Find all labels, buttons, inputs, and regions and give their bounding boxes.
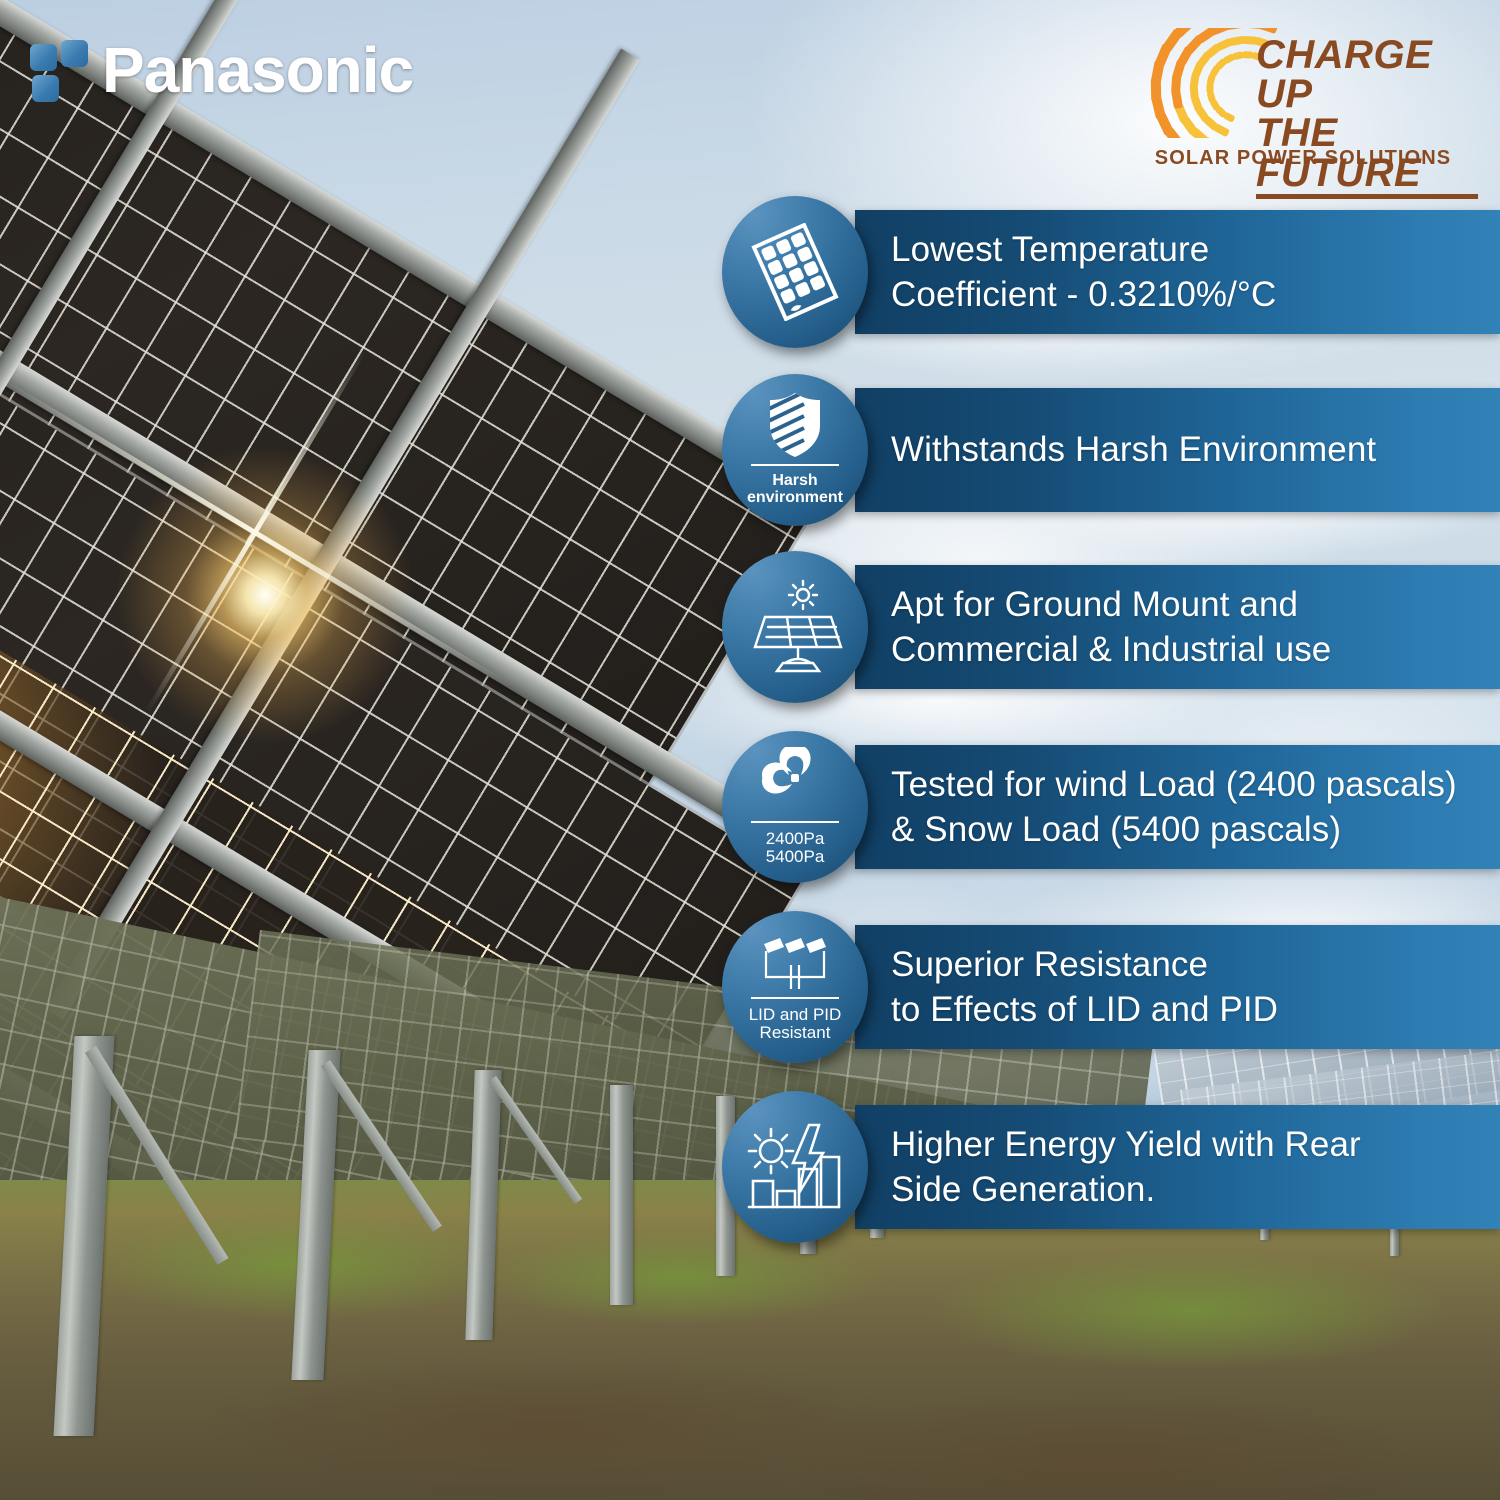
lid-pid-circuit-icon bbox=[754, 931, 836, 993]
feature-text: Lowest Temperature Coefficient - 0.3210%… bbox=[855, 227, 1276, 318]
feature-line: Tested for wind Load (2400 pascals) bbox=[891, 762, 1457, 808]
feature-icon-badge bbox=[722, 551, 868, 703]
feature-text: Superior Resistance to Effects of LID an… bbox=[855, 942, 1278, 1033]
icon-caption: Harsh environment bbox=[747, 473, 843, 507]
charge-up-the-future-logo: CHARGE UP THE FUTURE SOLAR POWER SOLUTIO… bbox=[1128, 28, 1478, 170]
feature-bar: Tested for wind Load (2400 pascals) & Sn… bbox=[855, 745, 1500, 869]
panasonic-logo: Panasonic bbox=[30, 36, 413, 104]
feature-line: Side Generation. bbox=[891, 1167, 1361, 1213]
feature-line: Coefficient - 0.3210%/°C bbox=[891, 272, 1276, 318]
icon-caption: LID and PID Resistant bbox=[749, 1006, 842, 1042]
feature-bar: Withstands Harsh Environment bbox=[855, 388, 1500, 512]
feature-icon-badge: 2400Pa 5400Pa bbox=[722, 731, 868, 883]
feature-line: Higher Energy Yield with Rear bbox=[891, 1122, 1361, 1168]
feature-line: Lowest Temperature bbox=[891, 227, 1276, 273]
feature-text: Withstands Harsh Environment bbox=[855, 427, 1376, 473]
icon-divider bbox=[751, 821, 839, 823]
feature-bar: Apt for Ground Mount and Commercial & In… bbox=[855, 565, 1500, 689]
sun-bolt-chart-icon bbox=[743, 1119, 847, 1215]
feature-icon-badge bbox=[722, 1091, 868, 1243]
shield-icon bbox=[764, 390, 826, 460]
feature-line: Superior Resistance bbox=[891, 942, 1278, 988]
panasonic-wordmark: Panasonic bbox=[102, 38, 413, 102]
feature-line: to Effects of LID and PID bbox=[891, 987, 1278, 1033]
panasonic-squares-icon bbox=[30, 36, 92, 104]
feature-bar: Lowest Temperature Coefficient - 0.3210%… bbox=[855, 210, 1500, 334]
wind-fan-icon bbox=[756, 747, 834, 817]
feature-icon-badge bbox=[722, 196, 868, 348]
charge-up-line2: THE FUTURE bbox=[1256, 114, 1478, 198]
feature-line: & Snow Load (5400 pascals) bbox=[891, 807, 1457, 853]
icon-divider bbox=[751, 997, 839, 999]
icon-divider bbox=[751, 464, 839, 466]
feature-line: Apt for Ground Mount and bbox=[891, 582, 1331, 628]
feature-icon-badge: Harsh environment bbox=[722, 374, 868, 526]
feature-icon-badge: LID and PID Resistant bbox=[722, 911, 868, 1063]
feature-line: Withstands Harsh Environment bbox=[891, 427, 1376, 473]
icon-caption: 2400Pa 5400Pa bbox=[766, 830, 825, 866]
feature-bar: Higher Energy Yield with Rear Side Gener… bbox=[855, 1105, 1500, 1229]
ground-mount-panel-icon bbox=[743, 579, 847, 675]
feature-line: Commercial & Industrial use bbox=[891, 627, 1331, 673]
feature-list: Lowest Temperature Coefficient - 0.3210%… bbox=[0, 0, 1500, 1500]
charge-up-line1: CHARGE UP bbox=[1256, 36, 1478, 114]
feature-text: Tested for wind Load (2400 pascals) & Sn… bbox=[855, 762, 1457, 853]
feature-text: Higher Energy Yield with Rear Side Gener… bbox=[855, 1122, 1361, 1213]
solar-panel-grid-icon bbox=[746, 223, 844, 321]
feature-text: Apt for Ground Mount and Commercial & In… bbox=[855, 582, 1331, 673]
feature-bar: Superior Resistance to Effects of LID an… bbox=[855, 925, 1500, 1049]
